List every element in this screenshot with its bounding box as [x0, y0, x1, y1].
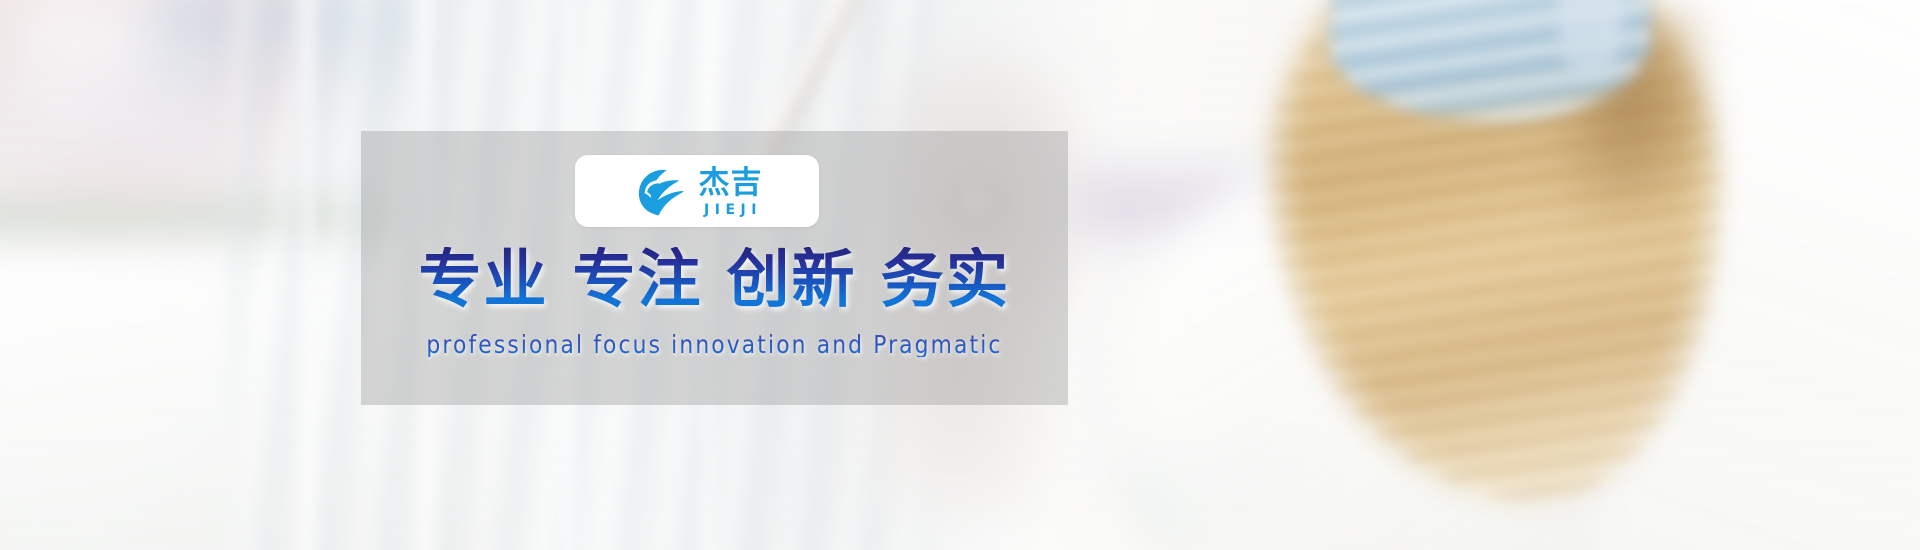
slogan-word-2: 专注 — [573, 243, 703, 316]
logo-chinese-name: 杰吉 — [699, 168, 763, 199]
jieji-swoosh-icon — [632, 162, 690, 220]
company-logo[interactable]: 杰吉 JIEJI — [575, 155, 819, 227]
slogan-english: professional focus innovation and Pragma… — [372, 332, 1058, 357]
slogan-word-3: 创新 — [727, 243, 857, 316]
slogan-word-1: 专业 — [419, 243, 549, 316]
overlay-panel: 杰吉 JIEJI 专业专注创新务实 professional focus inn… — [361, 131, 1068, 405]
slogan-chinese: 专业专注创新务实 — [361, 247, 1068, 313]
hero-banner: 杰吉 JIEJI 专业专注创新务实 professional focus inn… — [0, 0, 1920, 550]
logo-wordmark: 杰吉 JIEJI — [699, 166, 763, 217]
slogan-word-4: 务实 — [881, 243, 1011, 316]
logo-latin-name: JIEJI — [704, 203, 762, 217]
